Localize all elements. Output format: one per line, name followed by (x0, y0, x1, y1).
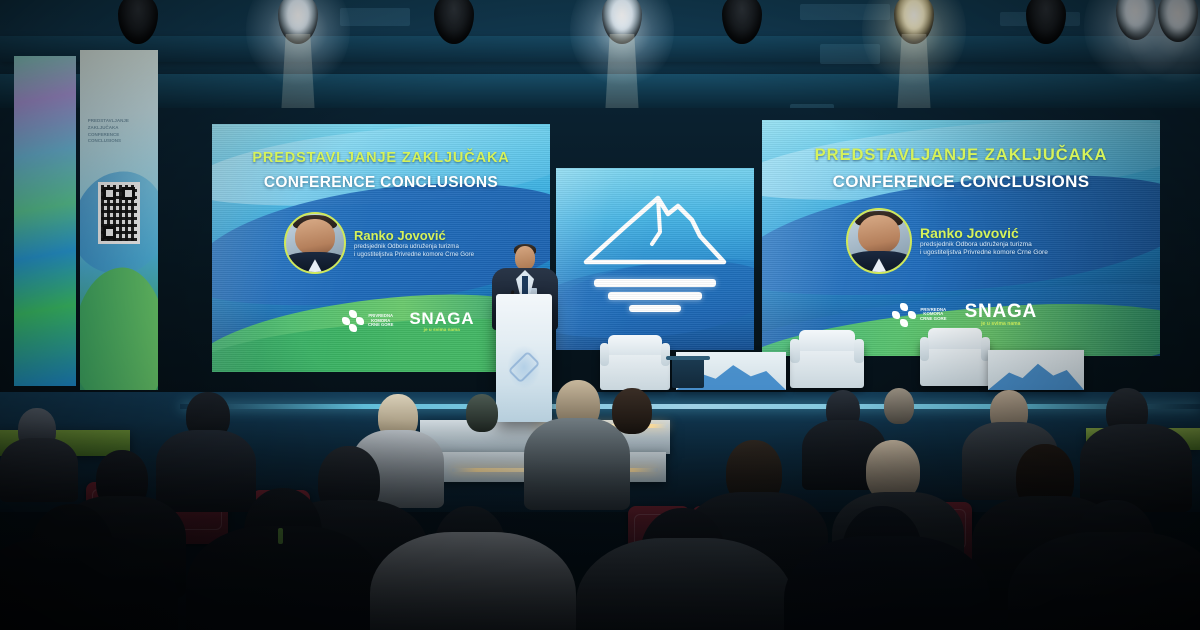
audience-body (156, 430, 256, 512)
qr-code (98, 182, 140, 244)
sponsor-logo-row: PRIVREDNA KOMORA CRNE GORE SNAGA je u sv… (892, 302, 1037, 327)
audience-body (576, 538, 794, 630)
speaker-portrait (284, 212, 346, 274)
left-led-screen: PREDSTAVLJANJE ZAKLJUČAKA CONFERENCE CON… (212, 124, 550, 372)
stage-light-lit (1152, 0, 1200, 50)
audience-body (524, 418, 630, 510)
screen-main-title: CONFERENCE CONCLUSIONS (762, 172, 1160, 192)
mountain-bar-3 (629, 305, 681, 312)
privredna-komora-logo: PRIVREDNA KOMORA CRNE GORE (342, 310, 393, 332)
mountain-outline-icon (580, 192, 730, 270)
audience-body (1008, 532, 1200, 630)
side-table-top (666, 356, 710, 360)
stage-light-lit (888, 0, 940, 52)
audience-body (1080, 424, 1192, 512)
audience-body (370, 532, 576, 630)
audience-body (186, 526, 382, 630)
screen-kicker-title: PREDSTAVLJANJE ZAKLJUČAKA (212, 150, 550, 166)
panel-text-line-1: PREDSTAVLJANJE (88, 118, 150, 125)
audience-head (884, 388, 914, 424)
iridescent-led-panel (14, 56, 76, 386)
audience-head (612, 388, 652, 434)
privredna-komora-logo: PRIVREDNA KOMORA CRNE GORE (892, 303, 947, 327)
snaga-tagline: je u svima nama (409, 327, 474, 332)
stage-light-lit (272, 0, 324, 52)
mountain-bar-1 (594, 279, 716, 287)
panel-text-line-2: ZAKLJUČAKA (88, 125, 150, 132)
panel-text-line-4: CONCLUSIONS (88, 138, 150, 145)
audience-head (466, 394, 498, 432)
seated-audience (0, 380, 1200, 630)
speaker-credit-block: Ranko Jovović predsjednik Odbora udružen… (846, 208, 1048, 274)
screen-main-title: CONFERENCE CONCLUSIONS (212, 174, 550, 192)
snaga-wordmark: SNAGA (965, 302, 1037, 321)
logo-line-3: CRNE GORE (368, 323, 393, 327)
speaker-role-line-2: i ugostiteljstva Privredne komore Crne G… (354, 251, 474, 259)
snaga-logo: SNAGA je u svima nama (409, 310, 474, 332)
lanyard (278, 528, 283, 544)
mountain-bar-2 (608, 292, 702, 300)
chamber-diamond-icon (342, 310, 364, 332)
stage-light (428, 0, 480, 52)
ceiling-panel (340, 8, 410, 26)
mountain-logo (580, 192, 730, 312)
speaker-role-line-2: i ugostiteljstva Privredne komore Crne G… (920, 249, 1048, 257)
sponsor-logo-row: PRIVREDNA KOMORA CRNE GORE SNAGA je u sv… (342, 310, 474, 332)
vertical-led-panel: PREDSTAVLJANJE ZAKLJUČAKA CONFERENCE CON… (80, 50, 158, 390)
screen-kicker-title: PREDSTAVLJANJE ZAKLJUČAKA (762, 146, 1160, 165)
snaga-wordmark: SNAGA (409, 310, 474, 327)
conference-stage-scene: PREDSTAVLJANJE ZAKLJUČAKA CONFERENCE CON… (0, 0, 1200, 630)
snaga-logo: SNAGA je u svima nama (965, 302, 1037, 327)
stage-light (112, 0, 164, 52)
audience-body (784, 536, 990, 630)
panel-text-block: PREDSTAVLJANJE ZAKLJUČAKA CONFERENCE CON… (88, 118, 150, 145)
stage-light (1020, 0, 1072, 52)
stage-light-lit (596, 0, 648, 52)
speaker-portrait (846, 208, 912, 274)
right-led-screen: PREDSTAVLJANJE ZAKLJUČAKA CONFERENCE CON… (762, 120, 1160, 356)
chamber-diamond-icon (892, 303, 916, 327)
speaker-role-line-1: predsjednik Odbora udruženja turizma (354, 243, 474, 251)
speaker-role-line-1: predsjednik Odbora udruženja turizma (920, 241, 1048, 249)
speaker-credit-block: Ranko Jovović predsjednik Odbora udružen… (284, 212, 474, 274)
stage-light (716, 0, 768, 52)
audience-body (0, 438, 78, 502)
speaker-name: Ranko Jovović (354, 228, 474, 243)
center-led-screen (556, 168, 754, 350)
snaga-tagline: je u svima nama (965, 321, 1037, 327)
speaker-name: Ranko Jovović (920, 225, 1048, 241)
logo-line-3: CRNE GORE (920, 317, 947, 322)
panel-text-line-3: CONFERENCE (88, 132, 150, 139)
